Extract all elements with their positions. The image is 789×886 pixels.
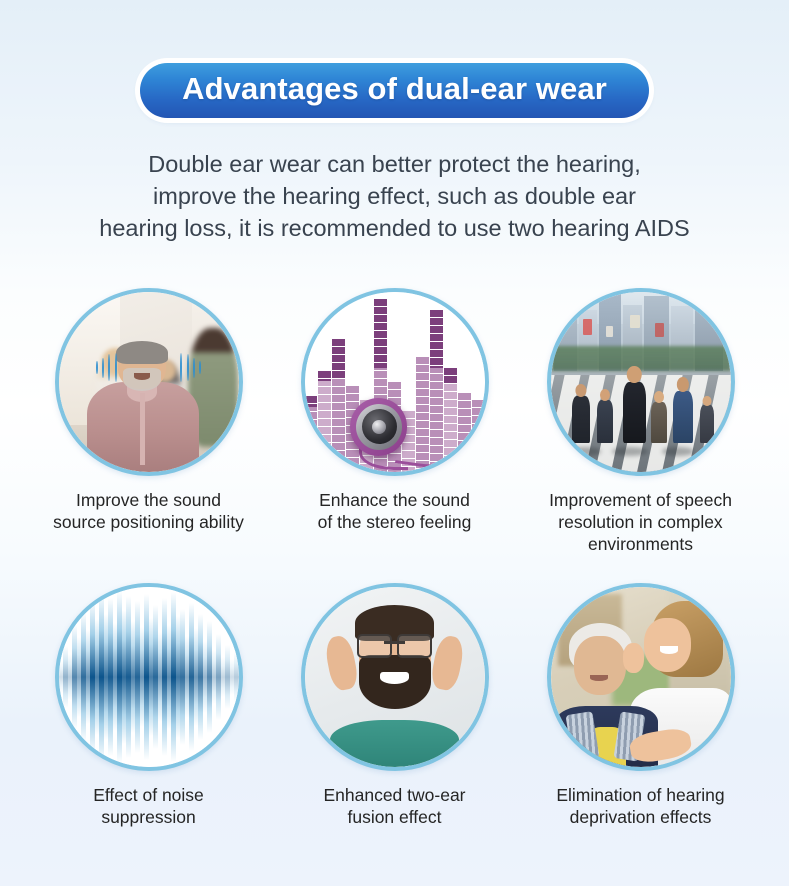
benefits-row-1: Improve the sound source positioning abi… [0, 288, 789, 555]
waveform-bar [81, 612, 86, 742]
office-man-with-sound-waves-illustration [59, 292, 239, 472]
title-pill: Advantages of dual-ear wear [140, 63, 649, 118]
caption-line-2: deprivation effects [556, 806, 724, 828]
infographic-page: Advantages of dual-ear wear Double ear w… [0, 0, 789, 886]
waveform-bar [171, 592, 176, 761]
waveform-bar [234, 652, 239, 702]
waveform-bar [207, 621, 212, 733]
card-image-circle [547, 288, 735, 476]
caption-line-1: Improvement of speech [549, 489, 732, 511]
benefits-grid: Improve the sound source positioning abi… [0, 288, 789, 828]
waveform-bar [90, 600, 95, 755]
waveform-bar [198, 614, 203, 740]
subtitle-line-2: improve the hearing effect, such as doub… [0, 180, 789, 212]
equalizer-bar-cap [318, 371, 331, 381]
caption-line-1: Enhanced two-ear [323, 784, 465, 806]
waveform-bar [189, 603, 194, 751]
eyeglasses-icon [357, 634, 433, 654]
card-image-circle [301, 583, 489, 771]
waveform-bar [180, 609, 185, 746]
sound-wave-left-icon [96, 353, 119, 382]
waveform-bar [99, 592, 104, 761]
card-caption: Improvement of speech resolution in comp… [549, 489, 732, 555]
equalizer-bar [305, 396, 318, 472]
waveform-bar [135, 601, 140, 752]
waveform-bar [144, 594, 149, 760]
card-caption: Improve the sound source positioning abi… [53, 489, 244, 533]
waveform-bar [225, 645, 230, 710]
benefits-row-2: Effect of noise suppression [0, 583, 789, 828]
equalizer-bar-cap [430, 310, 443, 368]
waveform-bar [117, 591, 122, 764]
waveform-bar [108, 598, 113, 756]
waveform-bar [216, 634, 221, 720]
card-caption: Effect of noise suppression [93, 784, 204, 828]
caption-line-2: source positioning ability [53, 511, 244, 533]
page-title: Advantages of dual-ear wear [182, 72, 607, 105]
card-caption: Elimination of hearing deprivation effec… [556, 784, 724, 828]
subtitle-line-1: Double ear wear can better protect the h… [0, 148, 789, 180]
caption-line-1: Improve the sound [53, 489, 244, 511]
waveform-bar [126, 596, 131, 758]
speaker-icon [350, 398, 408, 456]
equalizer-bar [332, 339, 345, 472]
subtitle-block: Double ear wear can better protect the h… [0, 148, 789, 244]
waveform-bar [162, 598, 167, 756]
equalizer-bar-cap [444, 368, 457, 385]
waveform-bar [153, 605, 158, 749]
waveform-bar [72, 625, 77, 729]
card-speech-resolution[interactable]: Improvement of speech resolution in comp… [539, 288, 743, 555]
waveform-bar [63, 646, 68, 707]
city-crosswalk-crowd-illustration [551, 292, 731, 472]
card-hearing-deprivation[interactable]: Elimination of hearing deprivation effec… [539, 583, 743, 828]
card-image-circle [547, 583, 735, 771]
caption-line-1: Enhance the sound [318, 489, 472, 511]
sound-wave-right-icon [177, 353, 200, 382]
equalizer-bar [318, 371, 331, 472]
card-sound-source-positioning[interactable]: Improve the sound source positioning abi… [47, 288, 251, 555]
card-image-circle [55, 583, 243, 771]
waveform-bars [59, 587, 239, 767]
caption-line-2: fusion effect [323, 806, 465, 828]
caregiver-speaking-to-elderly-woman-illustration [551, 587, 731, 767]
equalizer-bar-cap [374, 299, 387, 368]
card-image-circle [55, 288, 243, 476]
subtitle-line-3: hearing loss, it is recommended to use t… [0, 212, 789, 244]
caption-line-2: suppression [93, 806, 204, 828]
man-cupping-both-ears-illustration [305, 587, 485, 767]
card-noise-suppression[interactable]: Effect of noise suppression [47, 583, 251, 828]
caption-line-3: environments [549, 533, 732, 555]
equalizer-bars-with-speaker-illustration [305, 292, 485, 472]
caption-line-2: of the stereo feeling [318, 511, 472, 533]
caption-line-1: Elimination of hearing [556, 784, 724, 806]
blue-sound-waveform-illustration [59, 587, 239, 767]
caption-line-1: Effect of noise [93, 784, 204, 806]
card-caption: Enhanced two-ear fusion effect [323, 784, 465, 828]
card-stereo-feeling[interactable]: Enhance the sound of the stereo feeling [293, 288, 497, 555]
card-image-circle [301, 288, 489, 476]
card-two-ear-fusion[interactable]: Enhanced two-ear fusion effect [293, 583, 497, 828]
card-caption: Enhance the sound of the stereo feeling [318, 489, 472, 533]
title-banner: Advantages of dual-ear wear [0, 63, 789, 118]
equalizer-bar-cap [332, 339, 345, 379]
caption-line-2: resolution in complex [549, 511, 732, 533]
equalizer-bar-cap [305, 396, 318, 407]
